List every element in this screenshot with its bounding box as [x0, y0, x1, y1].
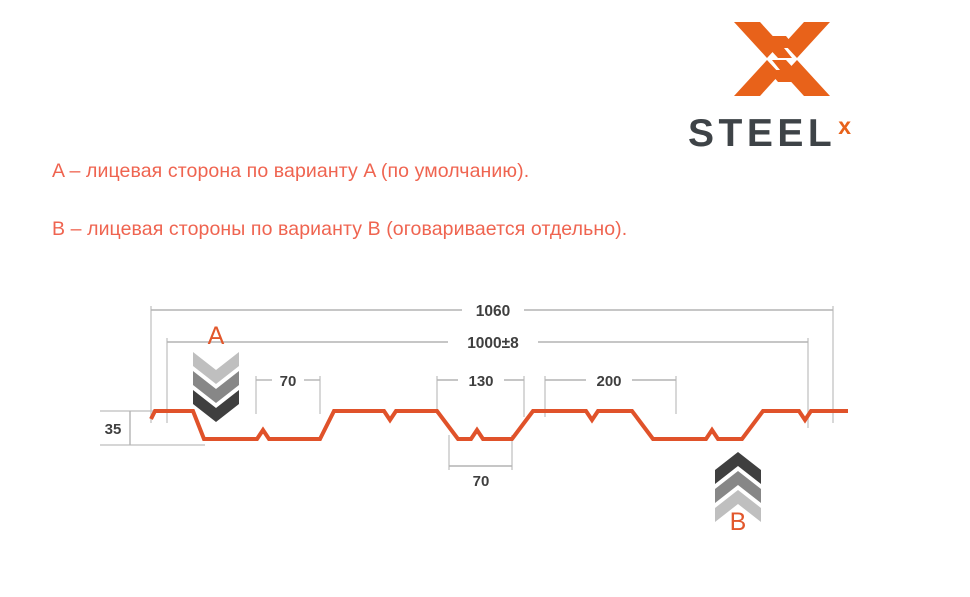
- profile-section-line: [151, 411, 848, 439]
- dimension-overall-width: 1060: [151, 303, 833, 423]
- description-line-b: B – лицевая стороны по варианту B (огова…: [52, 218, 627, 241]
- dimension-label-trapezoid-width: 130: [468, 373, 493, 390]
- marker-a-label: A: [196, 322, 236, 351]
- logo-wordmark: STEELx: [688, 106, 908, 146]
- dimension-label-working-width: 1000±8: [467, 335, 519, 352]
- dimension-label-valley-width: 70: [473, 473, 490, 490]
- technical-drawing: 1060 1000±8 70 130: [0, 280, 970, 560]
- steelx-logo: STEELx: [688, 18, 908, 146]
- dimension-label-height: 35: [105, 421, 122, 438]
- dimension-label-top-flange-width: 70: [280, 373, 297, 390]
- dimension-label-pitch: 200: [596, 373, 621, 390]
- profile-drawing-page: STEELx A – лицевая сторона по варианту A…: [0, 0, 970, 597]
- logo-wordmark-superscript: x: [838, 113, 851, 139]
- dimension-top-flange-width: 70: [256, 373, 320, 414]
- dimension-valley-width: 70: [449, 435, 512, 490]
- steelx-x-mark-icon: [734, 18, 830, 100]
- description-line-a: A – лицевая сторона по варианту A (по ум…: [52, 160, 529, 183]
- marker-b-chevrons-icon: [713, 452, 763, 522]
- marker-a-chevrons-icon: [191, 352, 241, 422]
- logo-wordmark-text: STEEL: [688, 112, 836, 155]
- dimension-label-overall-width: 1060: [476, 303, 510, 320]
- dimension-trapezoid-width: 130: [437, 373, 524, 417]
